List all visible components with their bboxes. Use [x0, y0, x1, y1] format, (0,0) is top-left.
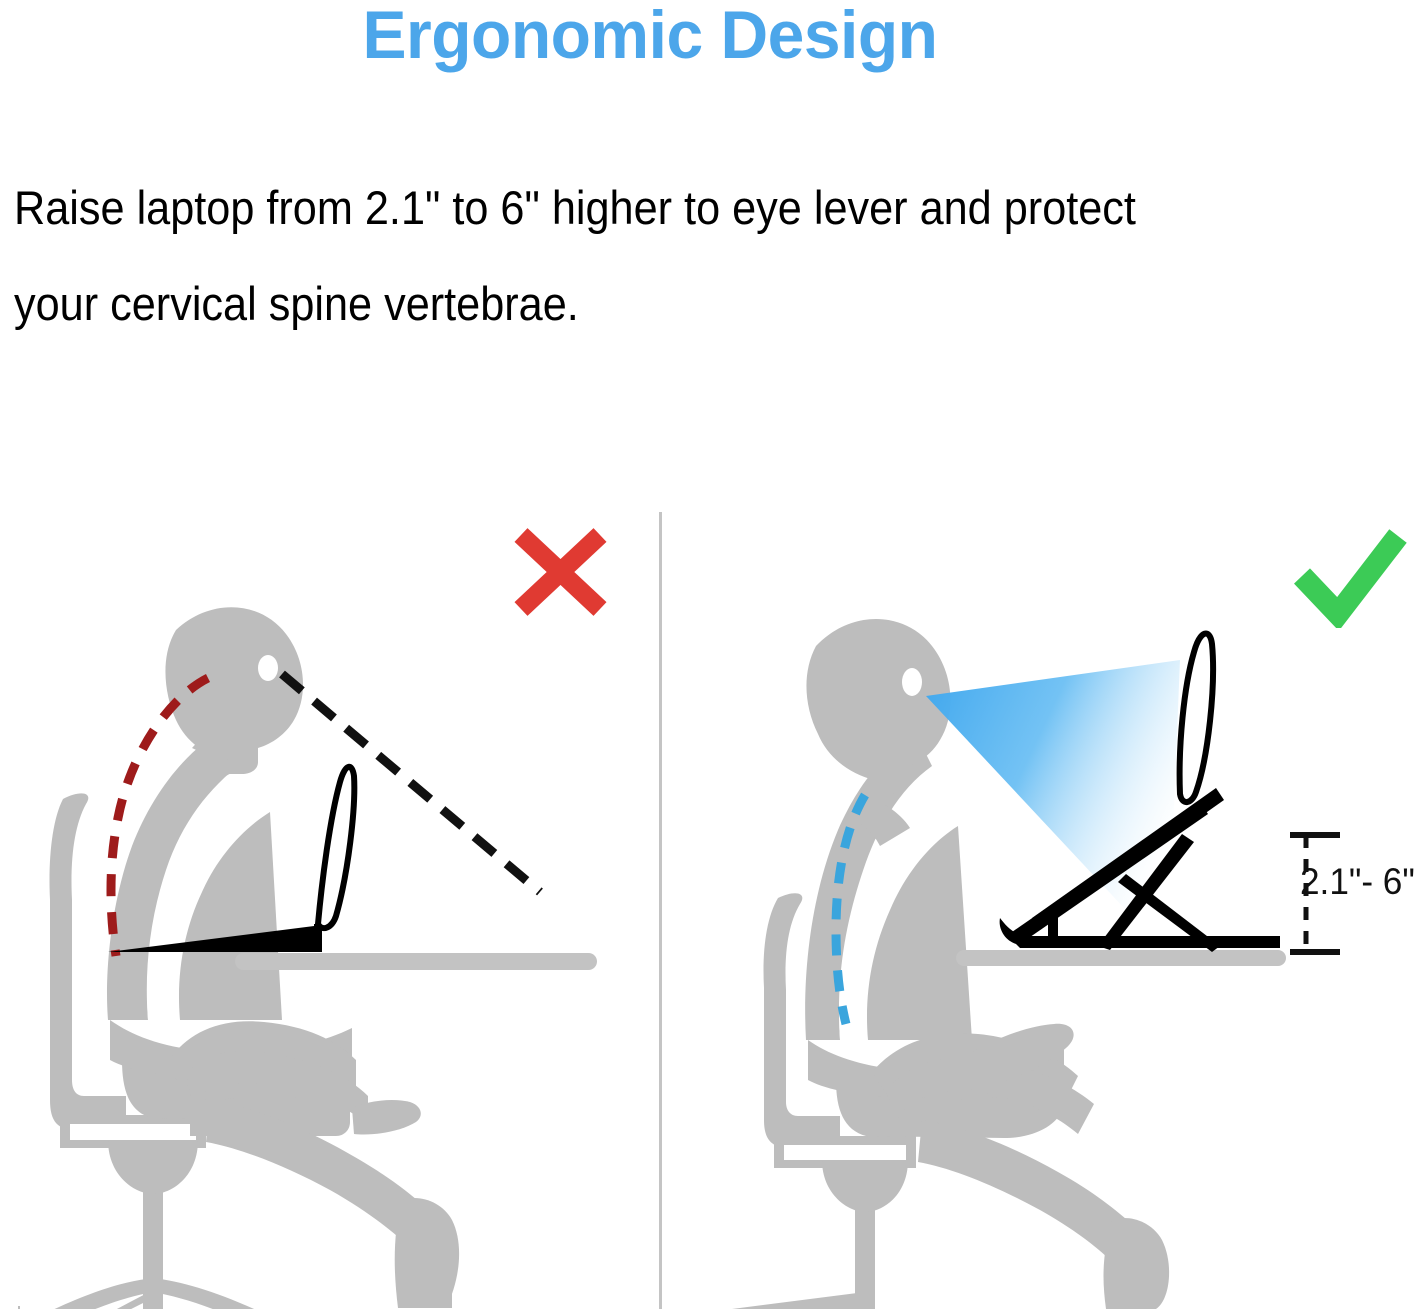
eye [902, 668, 922, 696]
height-range-label: 2.1"- 6" [1300, 862, 1415, 902]
desk-surface [956, 950, 1286, 966]
chair-base-post [143, 1278, 163, 1309]
thigh [918, 1120, 1134, 1262]
laptop-screen-raised [1180, 634, 1213, 803]
hand [352, 1100, 421, 1135]
chair-hub [822, 1160, 908, 1212]
chair-base-left-leg [732, 1292, 865, 1309]
comparison-panels: 2.1"- 6" [0, 0, 1419, 1309]
eye [258, 655, 278, 681]
ergonomic-design-infographic: Ergonomic Design Raise laptop from 2.1" … [0, 0, 1419, 1309]
chair-hub [108, 1140, 198, 1194]
cross-icon [505, 525, 615, 625]
knee [1104, 1218, 1170, 1309]
chair-seat-bar-inner [784, 1145, 906, 1160]
shin-upper [400, 1262, 452, 1308]
chair-seat-bar-inner [70, 1124, 196, 1140]
check-icon [1288, 528, 1408, 628]
laptop-screen [318, 767, 354, 928]
head [165, 607, 303, 774]
sight-line-downward [282, 674, 540, 892]
desk-surface [235, 953, 597, 970]
